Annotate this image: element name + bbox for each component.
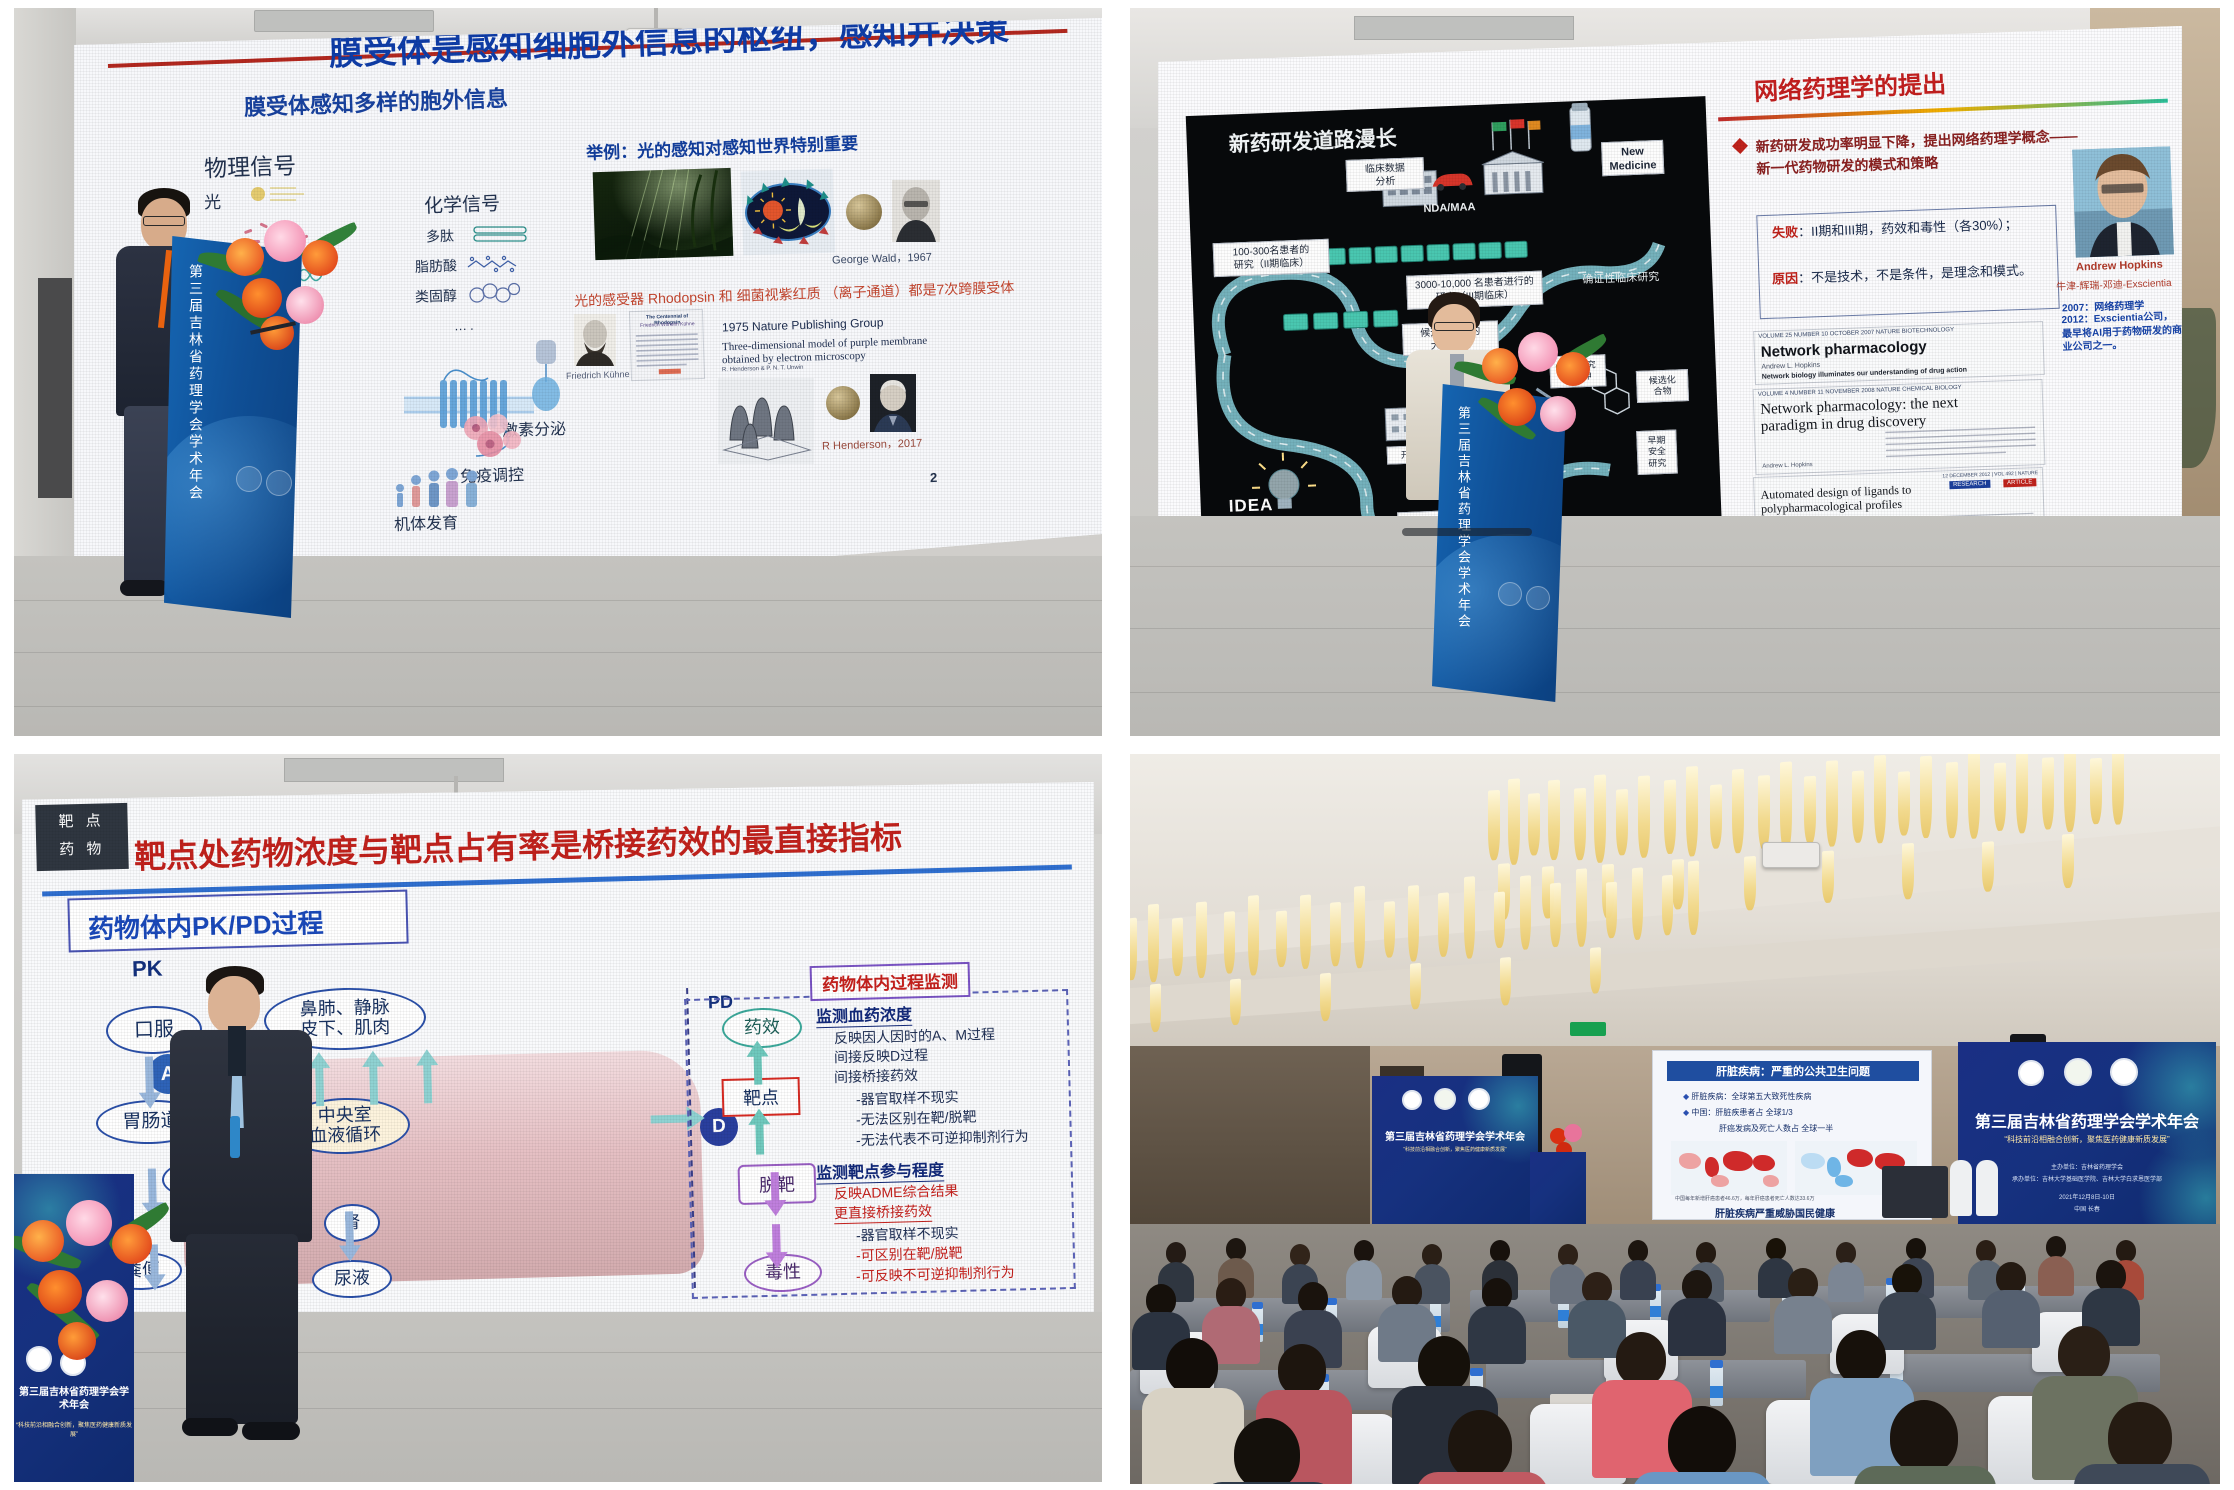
flower-gerbera [1556, 352, 1590, 386]
lectern-far [1882, 1166, 1948, 1218]
rhodopsin-caption: 光的感受器 Rhodopsin 和 细菌视紫红质 （离子通道）都是7次跨膜受体 [574, 277, 1015, 311]
projector-mount [654, 8, 658, 30]
ceiling-vent [1354, 16, 1574, 40]
label-chemical-ellipsis: …. [454, 318, 477, 334]
monitor-s2-line-2: 更直接桥接药效 [834, 1201, 933, 1225]
flower-gerbera [226, 238, 264, 276]
monitor-s1-line-3: 间接桥接药效 [834, 1065, 918, 1087]
side-wall-panel [1130, 1046, 1370, 1246]
portrait-name: Andrew Hopkins [2076, 258, 2163, 273]
photo-collage: 膜受体是感知细胞外信息的枢纽，感知并决策 膜受体感知多样的胞外信息 物理信号 化… [0, 0, 2234, 1490]
exit-sign [1570, 1022, 1606, 1036]
credit-george-wald: George Wald，1967 [832, 248, 932, 267]
portrait-andrew-hopkins [2072, 146, 2174, 257]
immune-cells-icon [460, 410, 526, 460]
slide-subtitle: 膜受体感知多样的胞外信息 [243, 81, 508, 122]
paper-author: Friedrich Wilhelm Kühne [634, 321, 700, 329]
paper-text-lines [636, 332, 701, 378]
panel-network-pharmacology-lecture: 网络药理学的提出 新药研发道路漫长 [1116, 0, 2234, 748]
label-steroid: 类固醇 [415, 285, 458, 306]
new-medicine-label: New Medicine [1601, 140, 1664, 176]
flower-gerbera [1498, 388, 1536, 426]
roadmap-tag: 早期 安全 研究 [1636, 430, 1678, 476]
roadmap-tag: 100-300名患者的 研究（II期临床） [1213, 239, 1330, 277]
pkpd-box-title: 药物体内PK/PD过程 [88, 903, 324, 946]
mic-stand-base [1402, 528, 1532, 536]
peptide-icon [472, 224, 528, 244]
slide-title: 靶点处药物浓度与靶点占有率是桥接药效的最直接指标 [134, 812, 903, 878]
monitor-s2-line-4: -可区别在靶/脱靶 [856, 1243, 963, 1266]
banner-left-slogan: “科技前沿相融合创新，聚焦医药健康新质发展” [16, 1420, 132, 1438]
flower-lily [66, 1200, 112, 1246]
cause-label: 原因 [1772, 271, 1799, 287]
roadmap-tag: 临床数据 分析 [1346, 157, 1425, 192]
podium-emblem-1 [236, 466, 262, 492]
caption-kuhne: Friedrich Kühne [566, 369, 630, 381]
nature-line1: 1975 Nature Publishing Group [722, 315, 884, 334]
car-icon [1430, 167, 1473, 193]
journal1-title: Network pharmacology [1761, 338, 1927, 361]
flower-bouquet [14, 1174, 184, 1374]
flower-bouquet [1460, 308, 1610, 458]
event-banner-mid-left: 第三届吉林省药理学会学术年会 “科技前沿相融合创新，聚焦医药健康新质发展” [1372, 1076, 1538, 1226]
speaker-shoe-left [120, 580, 168, 596]
forest-light-photo [593, 168, 734, 260]
journal3-badge-research: RESEARCH [1949, 480, 1991, 489]
screen-bullet-1: ◆ 肝脏疾病：全球第五大致死性疾病 [1683, 1091, 1811, 1102]
pk-label: PK [132, 956, 163, 983]
panel-audience-hall: 肝脏疾病：严重的公共卫生问题 ◆ 肝脏疾病：全球第五大致死性疾病 ◆ 中国：肝脏… [1116, 748, 2234, 1490]
label-peptide: 多肽 [426, 226, 455, 247]
speaker-shoe-right [242, 1422, 300, 1440]
nda-maa-label: NDA/MAA [1423, 201, 1475, 215]
monitor-section-1-title: 监测血药浓度 [816, 1001, 913, 1029]
speaker-badge-lanyard [230, 1116, 240, 1158]
flower-lily [86, 1280, 128, 1322]
screen-header: 肝脏疾病：严重的公共卫生问题 [1667, 1061, 1919, 1081]
banner-left-title-2: 第三届吉林省药理学会学术年会 [1372, 1128, 1538, 1143]
journal-clip-1: VOLUME 25 NUMBER 10 OCTOBER 2007 NATURE … [1753, 321, 2045, 385]
lab-bench-row-icon [1281, 300, 1402, 345]
monitor-panel-title: 药物体内过程监测 [810, 962, 971, 1001]
chair-far-1 [1950, 1160, 1972, 1216]
monitor-s1-line-2: 间接反映D过程 [834, 1045, 929, 1067]
monitor-s2-line-5: -可反映不可逆抑制剂行为 [856, 1262, 1015, 1286]
label-chemical-signal: 化学信号 [424, 189, 501, 219]
slide-title: 网络药理学的提出 [1753, 64, 1946, 107]
flower-gerbera [58, 1322, 96, 1360]
monitor-s2-line-3: -器官取样不现实 [856, 1223, 959, 1246]
badge-line-2: 药 物 [36, 837, 128, 860]
red-diamond-bullet-icon [1732, 138, 1749, 155]
nature-authors: R. Henderson & P. N. T. Unwin [722, 365, 804, 374]
banner-right-title: 第三届吉林省药理学会学术年会 [1958, 1108, 2216, 1132]
steroid-icon [466, 282, 524, 304]
floor [1130, 516, 2220, 736]
confirmatory-trial-label: 确证性临床研究 [1582, 268, 1660, 287]
flower-gerbera [260, 316, 294, 350]
failure-label: 失败 [1772, 224, 1799, 240]
banner-emblem-3 [2110, 1058, 2138, 1086]
screen-bullet-2: ◆ 中国：肝脏疾患者占 全球1/3 [1683, 1107, 1793, 1118]
podium-emblem-1 [1498, 582, 1522, 606]
monitor-s2-line-1: 反映ADME综合结果 [834, 1180, 959, 1203]
flower-gerbera [302, 240, 338, 276]
nobel-medal-wald [846, 194, 882, 230]
screen-footer: 肝脏疾病严重威胁国民健康 [1715, 1205, 1835, 1220]
banner-emblem-2 [2064, 1058, 2092, 1086]
flower-lily [264, 220, 306, 262]
wall-panel-dark [38, 278, 72, 498]
human-development-icon [392, 462, 482, 508]
banner-emblem-1 [2018, 1060, 2044, 1086]
speaker-shoe-left [182, 1418, 238, 1436]
roadmap-tag: 候选化 合物 [1636, 369, 1689, 403]
fatty-acid-icon [466, 254, 524, 274]
projector [1762, 842, 1820, 868]
portrait-affiliation: 牛津-辉瑞-邓迪-Exscientia [2056, 274, 2172, 293]
label-body-development: 机体发育 [394, 509, 459, 535]
far-podium [1530, 1152, 1586, 1224]
speaker-person [166, 966, 326, 1446]
journal-clip-2: VOLUME 4 NUMBER 11 NOVEMBER 2008 NATURE … [1753, 379, 2046, 475]
medicine-bottle-icon [1557, 100, 1603, 164]
bullet-main-text: 新药研发成功率明显下降，提出网络药理学概念——新一代药物研发的模式和策略 [1755, 124, 2086, 180]
world-map-left [1671, 1141, 1787, 1195]
monitor-s1-line-4: -器官取样不现实 [856, 1087, 959, 1110]
forest-rays [593, 168, 734, 260]
credit-henderson: R Henderson，2017 [822, 434, 923, 453]
map-caption: 中国每年新增肝癌患者46.6万，每年肝癌患者死亡人数达33.6万 [1675, 1195, 1814, 1202]
hormone-secretion-icon [522, 336, 570, 414]
portrait-friedrich-kuhne [574, 314, 616, 366]
label-fatty-acid: 脂肪酸 [415, 255, 458, 276]
corner-badge: 靶 点 药 物 [35, 803, 129, 871]
panel-membrane-receptor-lecture: 膜受体是感知细胞外信息的枢纽，感知并决策 膜受体感知多样的胞外信息 物理信号 化… [0, 0, 1116, 748]
flower-lily [1540, 396, 1576, 432]
flower-lily [1518, 332, 1558, 372]
slide-page-number: 2 [930, 470, 938, 485]
podium-emblem-2 [1526, 586, 1550, 610]
banner-left-slogan-2: “科技前沿相融合创新，聚焦医药健康新质发展” [1372, 1146, 1538, 1153]
chair-far-2 [1976, 1160, 1998, 1216]
example-header: 举例：光的感知对感知世界特别重要 [586, 129, 859, 164]
banner-emblem-1 [1402, 1090, 1422, 1110]
cosmic-eye-artwork [741, 169, 836, 256]
note-2012: 2012：Exscientia公司，最早将AI用于药物研发的商业公司之一。 [2061, 310, 2182, 355]
purple-membrane-3d-model [718, 378, 814, 464]
flower-gerbera [1482, 348, 1518, 384]
screen-subline: 肝癌发病及死亡人数占 全球一半 [1719, 1123, 1833, 1134]
monitor-s1-line-5: -无法区别在靶/脱靶 [856, 1106, 977, 1129]
speaker-glasses [143, 216, 185, 226]
flower-lily [286, 286, 324, 324]
podium-emblem-2 [266, 470, 292, 496]
idea-label: IDEA [1228, 495, 1273, 517]
flower-gerbera [112, 1224, 152, 1264]
badge-line-1: 靶 点 [35, 809, 127, 832]
journal3-title: Automated design of ligands to polypharm… [1760, 482, 1941, 517]
journal3-badge-article: ARTICLE [2003, 478, 2036, 487]
journal2-abstract-lines [1885, 424, 2038, 463]
flags-icon [1486, 114, 1543, 152]
banner-emblem-3 [1468, 1088, 1490, 1110]
journal1-author: Andrew L. Hopkins [1761, 362, 1820, 371]
speaker-microphone [228, 1026, 246, 1076]
ceiling-vent [254, 10, 434, 32]
flower-gerbera [22, 1220, 64, 1262]
portrait-george-wald [892, 180, 940, 242]
flower-gerbera [242, 278, 282, 318]
speaker-trousers [186, 1234, 298, 1424]
banner-left-title: 第三届吉林省药理学会学术年会 [16, 1386, 132, 1412]
portrait-richard-henderson [870, 374, 916, 432]
flower-gerbera [38, 1270, 82, 1314]
banner-right-slogan: “科技前沿相融合创新，聚焦医药健康新质发展” [1958, 1134, 2216, 1145]
banner-emblem-2 [1434, 1088, 1456, 1110]
journal2-author: Andrew L. Hopkins [1762, 462, 1813, 470]
rhodopsin-centennial-clip: The Centennial of Rhodopsin Friedrich Wi… [629, 309, 705, 381]
panel-pk-pd-lecture: 靶 点 药 物 靶点处药物浓度与靶点占有率是桥接药效的最直接指标 药物体内PK/… [0, 748, 1116, 1490]
flower-bouquet [202, 194, 362, 354]
water-bottle [1710, 1360, 1723, 1406]
nobel-medal-henderson [826, 386, 860, 420]
government-building-icon [1479, 146, 1547, 196]
ceiling-vent [284, 758, 504, 782]
